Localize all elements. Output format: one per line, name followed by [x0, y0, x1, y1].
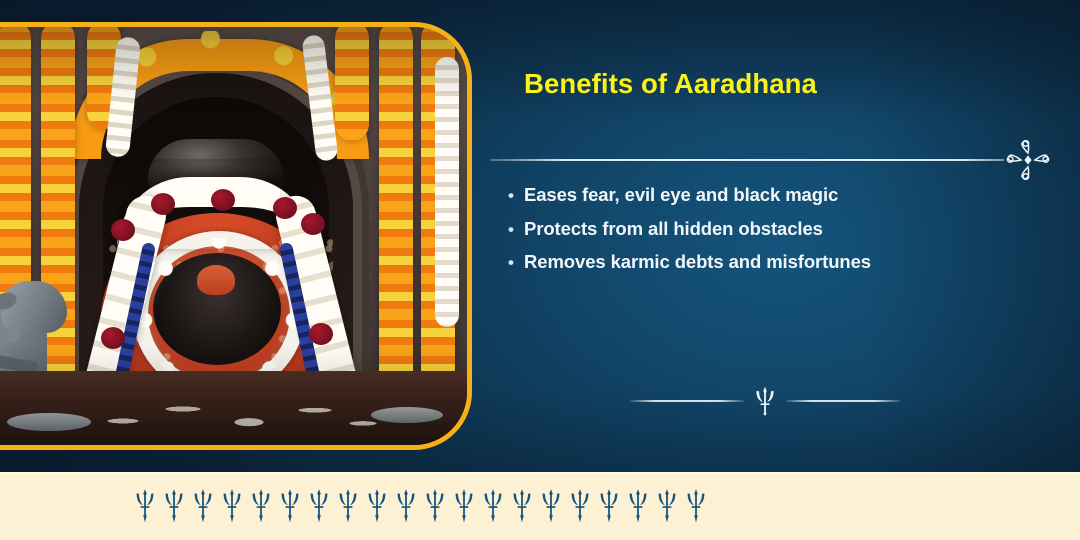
footer-band [0, 472, 1080, 540]
bullet-marker: • [508, 254, 524, 271]
rose-flower [301, 213, 325, 235]
list-item: • Protects from all hidden obstacles [508, 220, 1048, 239]
section-divider-line-right [786, 400, 900, 401]
trishul-icon [452, 489, 476, 523]
list-item-label: Removes karmic debts and misfortunes [524, 253, 871, 272]
rose-flower [151, 193, 175, 215]
bullet-marker: • [508, 221, 524, 238]
photo-canvas [0, 27, 467, 445]
bullet-marker: • [508, 187, 524, 204]
rose-flower [111, 219, 135, 241]
section-divider-line-left [630, 400, 744, 401]
header-divider-line [490, 159, 1004, 161]
trishul-icon [133, 489, 157, 523]
diamond-knot-icon [1006, 140, 1050, 180]
list-item: • Removes karmic debts and misfortunes [508, 253, 1048, 272]
trishul-icon [510, 489, 534, 523]
trishul-icon [752, 386, 778, 416]
benefits-list: • Eases fear, evil eye and black magic •… [508, 186, 1048, 287]
rose-flower [211, 189, 235, 211]
trishul-icon [394, 489, 418, 523]
footer-trishul-pattern [133, 489, 708, 523]
temple-shrine-photo [0, 22, 472, 450]
list-item-label: Eases fear, evil eye and black magic [524, 186, 838, 205]
slide-root: Benefits of Aaradhana • [0, 0, 1080, 540]
trishul-icon [481, 489, 505, 523]
trishul-icon [568, 489, 592, 523]
content-panel: Benefits of Aaradhana • [490, 0, 1080, 472]
rose-flower [273, 197, 297, 219]
trishul-icon [539, 489, 563, 523]
header-divider [490, 140, 1050, 180]
flower-offerings [93, 379, 393, 439]
offering-plate [7, 413, 91, 431]
trishul-icon [191, 489, 215, 523]
trishul-icon [655, 489, 679, 523]
trishul-icon [684, 489, 708, 523]
list-item-label: Protects from all hidden obstacles [524, 220, 823, 239]
trishul-icon [278, 489, 302, 523]
trishul-icon [249, 489, 273, 523]
trishul-icon [365, 489, 389, 523]
trishul-icon [597, 489, 621, 523]
trishul-icon [626, 489, 650, 523]
list-item: • Eases fear, evil eye and black magic [508, 186, 1048, 205]
trishul-icon [220, 489, 244, 523]
knot-center-diamond [1024, 155, 1031, 164]
section-divider [630, 386, 900, 416]
rose-flower [309, 323, 333, 345]
trishul-icon [423, 489, 447, 523]
trishul-icon [307, 489, 331, 523]
trishul-icon [336, 489, 360, 523]
page-title: Benefits of Aaradhana [524, 68, 817, 100]
rose-flower [101, 327, 125, 349]
trishul-icon [162, 489, 186, 523]
marigold-garland [335, 27, 369, 141]
jasmine-strand [435, 57, 459, 327]
